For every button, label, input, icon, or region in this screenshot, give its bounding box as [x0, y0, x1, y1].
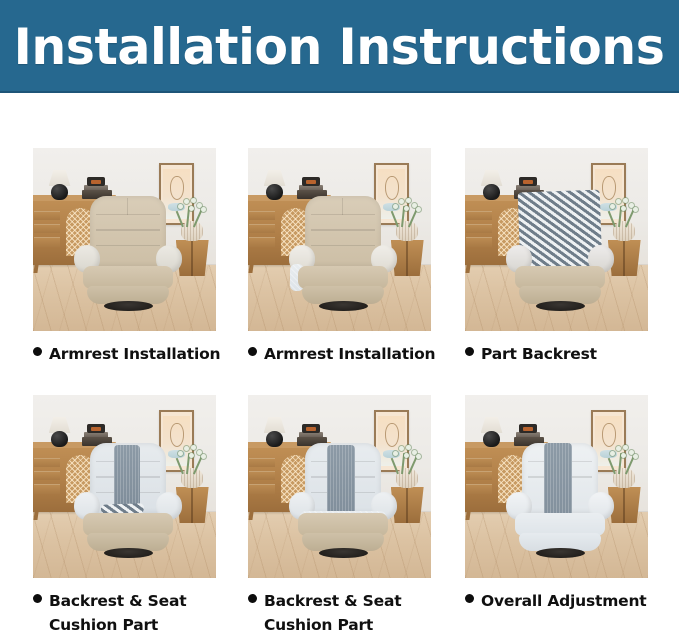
page-header-banner: Installation Instructions — [0, 0, 679, 93]
step-caption-text-4: Backrest & Seat Cushion Part — [49, 589, 186, 637]
step-photo-3 — [465, 148, 648, 331]
step-photo-4 — [33, 395, 216, 578]
filled-circle-bullet-icon — [465, 347, 474, 356]
step-caption-text-6: Overall Adjustment — [481, 589, 647, 613]
step-card-4[interactable]: Backrest & Seat Cushion Part — [33, 395, 216, 637]
step-card-2[interactable]: Armrest Installation — [248, 148, 431, 366]
step-photo-6 — [465, 395, 648, 578]
steps-grid: Armrest Installation — [0, 93, 679, 637]
step-card-6[interactable]: Overall Adjustment — [465, 395, 648, 613]
step-caption-6: Overall Adjustment — [465, 589, 675, 613]
step-card-3[interactable]: Part Backrest — [465, 148, 648, 366]
step-caption-4: Backrest & Seat Cushion Part — [33, 589, 243, 637]
filled-circle-bullet-icon — [248, 594, 257, 603]
page-title: Installation Instructions — [14, 22, 665, 72]
step-caption-5: Backrest & Seat Cushion Part — [248, 589, 458, 637]
backrest-center-panel — [114, 445, 141, 511]
step-caption-2: Armrest Installation — [248, 342, 458, 366]
installation-instructions-page: Installation Instructions — [0, 0, 679, 637]
step-caption-3: Part Backrest — [465, 342, 675, 366]
step-card-5[interactable]: Backrest & Seat Cushion Part — [248, 395, 431, 637]
step-photo-1 — [33, 148, 216, 331]
filled-circle-bullet-icon — [465, 594, 474, 603]
filled-circle-bullet-icon — [248, 347, 257, 356]
step-caption-text-5: Backrest & Seat Cushion Part — [264, 589, 401, 637]
filled-circle-bullet-icon — [33, 347, 42, 356]
step-caption-text-2: Armrest Installation — [264, 342, 435, 366]
step-caption-text-1: Armrest Installation — [49, 342, 220, 366]
step-photo-2 — [248, 148, 431, 331]
step-caption-text-3: Part Backrest — [481, 342, 597, 366]
step-photo-5 — [248, 395, 431, 578]
step-caption-1: Armrest Installation — [33, 342, 243, 366]
step-card-1[interactable]: Armrest Installation — [33, 148, 216, 366]
filled-circle-bullet-icon — [33, 594, 42, 603]
